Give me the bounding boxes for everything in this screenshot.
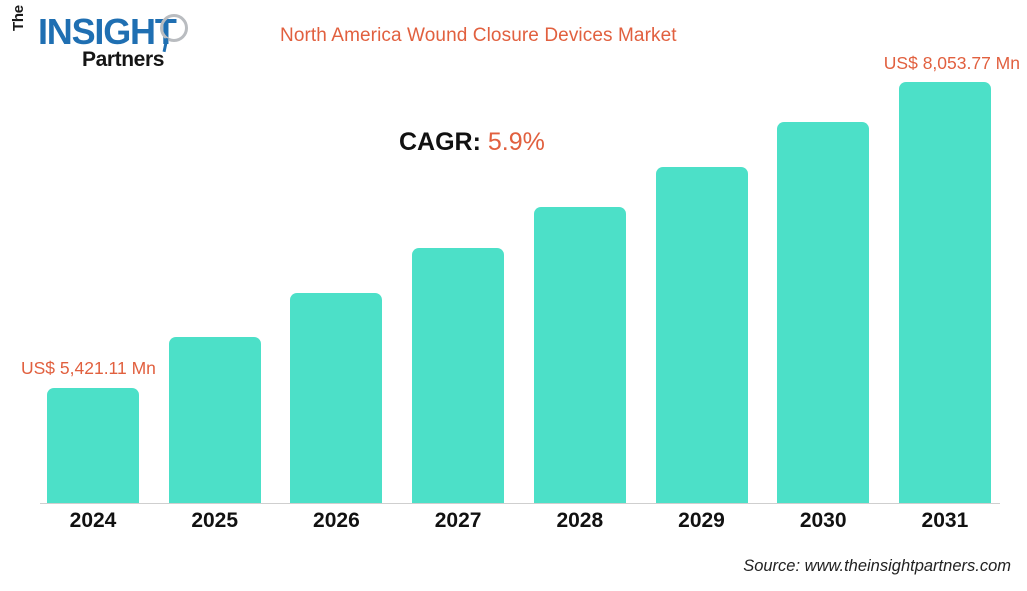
x-tick-2025: 2025 (169, 509, 261, 533)
x-tick-2029: 2029 (656, 509, 748, 533)
bar-2029 (656, 167, 748, 503)
bar-2026 (290, 293, 382, 503)
chart-canvas: The INSIGHT Partners North America Wound… (0, 0, 1027, 591)
x-tick-2028: 2028 (534, 509, 626, 533)
plot-area: 20242025202620272028202920302031 (0, 0, 1027, 591)
x-tick-2031: 2031 (899, 509, 991, 533)
bar-2030 (777, 122, 869, 503)
x-axis-line (40, 503, 1000, 504)
bar-2024 (47, 388, 139, 503)
x-tick-2027: 2027 (412, 509, 504, 533)
bar-2028 (534, 207, 626, 503)
bar-2025 (169, 337, 261, 503)
x-tick-2024: 2024 (47, 509, 139, 533)
x-tick-2026: 2026 (290, 509, 382, 533)
x-tick-2030: 2030 (777, 509, 869, 533)
source-caption: Source: www.theinsightpartners.com (743, 557, 1011, 576)
bar-2027 (412, 248, 504, 503)
bar-2031 (899, 82, 991, 503)
